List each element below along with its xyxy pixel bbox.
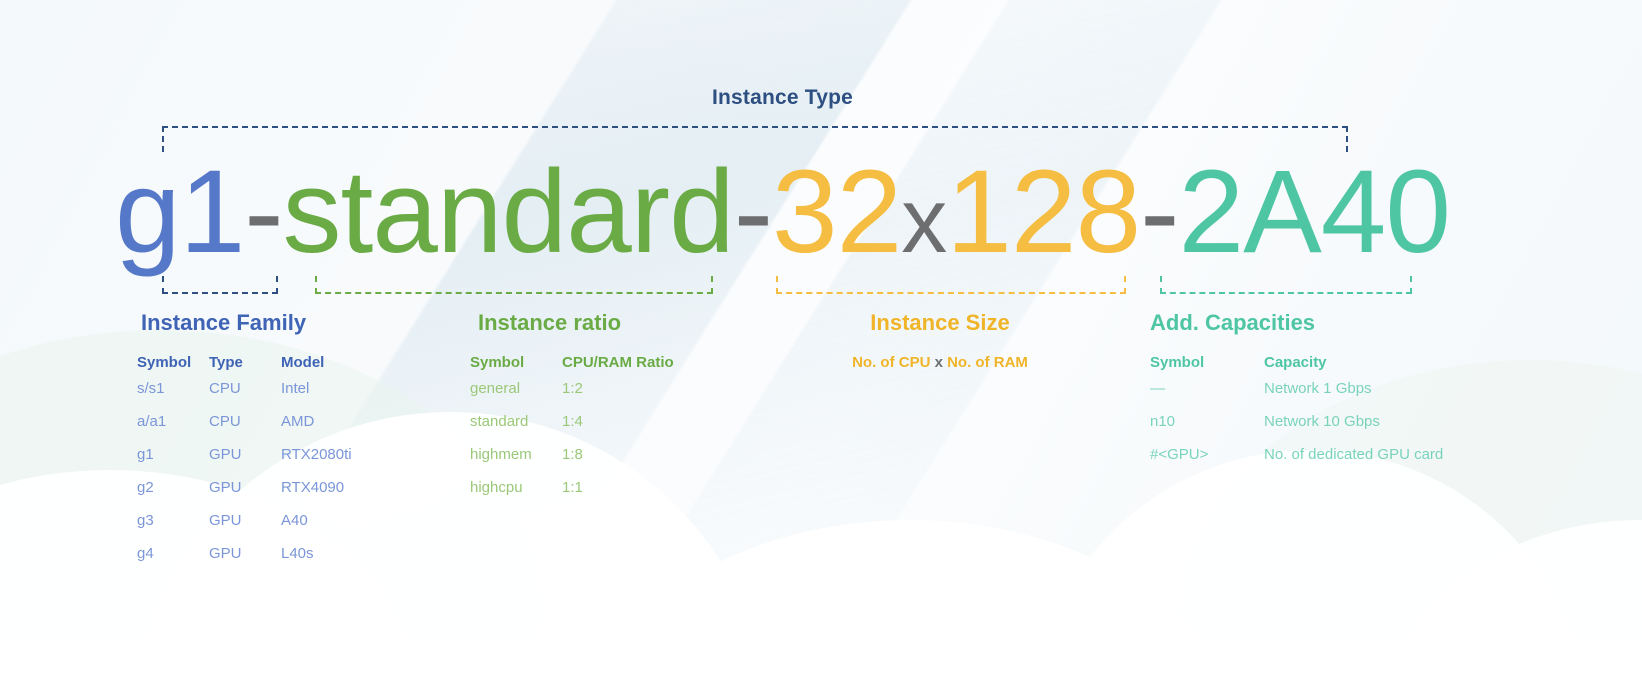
separator-2: - — [734, 146, 772, 278]
add-capacities-table: Symbol Capacity — Network 1 Gbps n10 Net… — [1150, 354, 1443, 479]
formula-ram: No. of RAM — [947, 354, 1028, 371]
table-row: g4 GPU L40s — [137, 545, 352, 578]
cell-symbol: general — [470, 380, 544, 413]
cell-symbol: — — [1150, 380, 1246, 413]
instance-ratio-title: Instance ratio — [470, 310, 674, 336]
cell-ratio: 1:1 — [544, 479, 674, 512]
column-header-ratio: CPU/RAM Ratio — [544, 354, 674, 380]
segment-ratio: standard — [283, 146, 734, 278]
cell-symbol: g1 — [137, 446, 209, 479]
segment-family: g1 — [115, 146, 244, 278]
cell-symbol: standard — [470, 413, 544, 446]
cell-type: GPU — [209, 545, 263, 578]
table-row: #<GPU> No. of dedicated GPU card — [1150, 446, 1443, 479]
instance-ratio-table: Symbol CPU/RAM Ratio general 1:2 standar… — [470, 354, 674, 512]
cell-model: RTX4090 — [263, 479, 352, 512]
column-header-type: Type — [209, 354, 263, 380]
column-header-symbol: Symbol — [470, 354, 544, 380]
cell-capacity: Network 1 Gbps — [1246, 380, 1443, 413]
table-header-row: Symbol Capacity — [1150, 354, 1443, 380]
instance-ratio-column: Instance ratio Symbol CPU/RAM Ratio gene… — [470, 310, 674, 512]
cell-model: Intel — [263, 380, 352, 413]
cell-capacity: Network 10 Gbps — [1246, 413, 1443, 446]
cell-symbol: a/a1 — [137, 413, 209, 446]
table-row: standard 1:4 — [470, 413, 674, 446]
size-bracket — [776, 276, 1126, 294]
table-header-row: Symbol CPU/RAM Ratio — [470, 354, 674, 380]
cell-symbol: g4 — [137, 545, 209, 578]
cell-type: CPU — [209, 413, 263, 446]
separator-3: - — [1140, 146, 1178, 278]
instance-family-title: Instance Family — [137, 310, 352, 336]
instance-size-title: Instance Size — [790, 310, 1090, 336]
cell-type: CPU — [209, 380, 263, 413]
cell-capacity: No. of dedicated GPU card — [1246, 446, 1443, 479]
separator-1: - — [244, 146, 282, 278]
cell-model: AMD — [263, 413, 352, 446]
family-bracket — [162, 276, 278, 294]
cell-ratio: 1:8 — [544, 446, 674, 479]
table-row: s/s1 CPU Intel — [137, 380, 352, 413]
cell-ratio: 1:2 — [544, 380, 674, 413]
table-header-row: Symbol Type Model — [137, 354, 352, 380]
instance-family-column: Instance Family Symbol Type Model s/s1 C… — [137, 310, 352, 578]
table-row: a/a1 CPU AMD — [137, 413, 352, 446]
formula-cpu: No. of CPU — [852, 354, 930, 371]
table-row: g1 GPU RTX2080ti — [137, 446, 352, 479]
column-header-capacity: Capacity — [1246, 354, 1443, 380]
multiply-symbol: x — [901, 170, 946, 272]
cell-model: A40 — [263, 512, 352, 545]
column-header-symbol: Symbol — [1150, 354, 1246, 380]
instance-type-string: g1-standard-32x128-2A40 — [0, 148, 1565, 285]
cell-symbol: highmem — [470, 446, 544, 479]
table-row: g2 GPU RTX4090 — [137, 479, 352, 512]
instance-size-column: Instance Size No. of CPU x No. of RAM — [790, 310, 1090, 371]
table-row: g3 GPU A40 — [137, 512, 352, 545]
cell-model: L40s — [263, 545, 352, 578]
ratio-bracket — [315, 276, 713, 294]
add-capacities-column: Add. Capacities Symbol Capacity — Networ… — [1150, 310, 1443, 479]
instance-family-table: Symbol Type Model s/s1 CPU Intel a/a1 CP… — [137, 354, 352, 578]
table-row: highmem 1:8 — [470, 446, 674, 479]
instance-size-formula: No. of CPU x No. of RAM — [790, 354, 1090, 371]
cell-type: GPU — [209, 446, 263, 479]
table-row: highcpu 1:1 — [470, 479, 674, 512]
cell-type: GPU — [209, 512, 263, 545]
cell-symbol: #<GPU> — [1150, 446, 1246, 479]
segment-capacity: 2A40 — [1178, 146, 1450, 278]
cell-symbol: n10 — [1150, 413, 1246, 446]
column-header-model: Model — [263, 354, 352, 380]
instance-type-label: Instance Type — [0, 86, 1565, 110]
cell-symbol: g3 — [137, 512, 209, 545]
cell-symbol: g2 — [137, 479, 209, 512]
table-row: general 1:2 — [470, 380, 674, 413]
column-header-symbol: Symbol — [137, 354, 209, 380]
segment-ram-size: 128 — [946, 146, 1140, 278]
segment-cpu-count: 32 — [772, 146, 901, 278]
cell-symbol: highcpu — [470, 479, 544, 512]
table-row: — Network 1 Gbps — [1150, 380, 1443, 413]
cell-symbol: s/s1 — [137, 380, 209, 413]
formula-multiply-symbol: x — [935, 354, 943, 371]
cell-ratio: 1:4 — [544, 413, 674, 446]
add-capacities-title: Add. Capacities — [1150, 310, 1443, 336]
table-row: n10 Network 10 Gbps — [1150, 413, 1443, 446]
cell-type: GPU — [209, 479, 263, 512]
cell-model: RTX2080ti — [263, 446, 352, 479]
capacity-bracket — [1160, 276, 1412, 294]
